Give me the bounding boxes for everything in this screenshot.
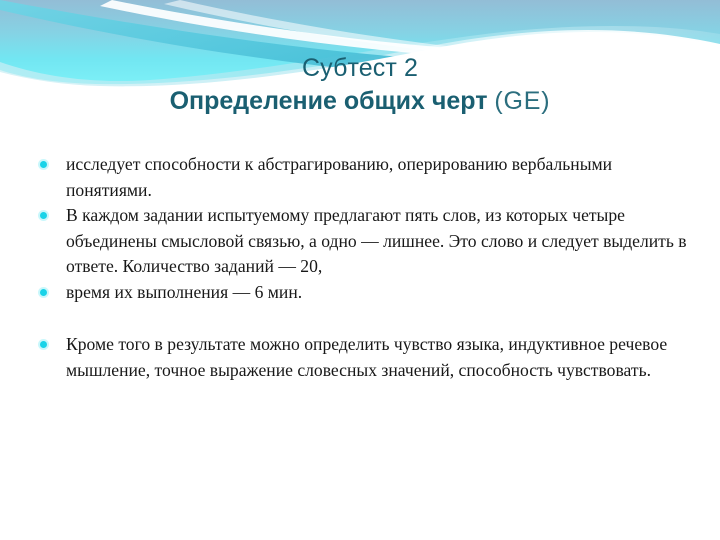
list-item: время их выполнения — 6 мин.	[36, 280, 688, 306]
list-item: В каждом задании испытуемому предлагают …	[36, 203, 688, 280]
bullet-dot-icon	[40, 289, 47, 296]
list-item-text: В каждом задании испытуемому предлагают …	[66, 203, 688, 280]
title-subject-text: Определение общих черт	[170, 87, 495, 115]
bullet-dot-icon	[40, 161, 47, 168]
bullet-dot-icon	[40, 212, 47, 219]
title-line-secondary: Определение общих черт (GE)	[0, 87, 720, 116]
list-item-text: исследует способности к абстрагированию,…	[66, 152, 688, 203]
list-item-text: время их выполнения — 6 мин.	[66, 280, 688, 306]
bullet-dot-icon	[40, 341, 47, 348]
slide-title: Субтест 2 Определение общих черт (GE)	[0, 54, 720, 115]
bullet-list: исследует способности к абстрагированию,…	[36, 152, 688, 383]
list-item-text: Кроме того в результате можно определить…	[66, 332, 688, 383]
title-abbreviation: (GE)	[494, 87, 550, 115]
title-line-primary: Субтест 2	[0, 54, 720, 83]
list-item: Кроме того в результате можно определить…	[36, 332, 688, 383]
list-item: исследует способности к абстрагированию,…	[36, 152, 688, 203]
slide-canvas: Субтест 2 Определение общих черт (GE) ис…	[0, 0, 720, 540]
